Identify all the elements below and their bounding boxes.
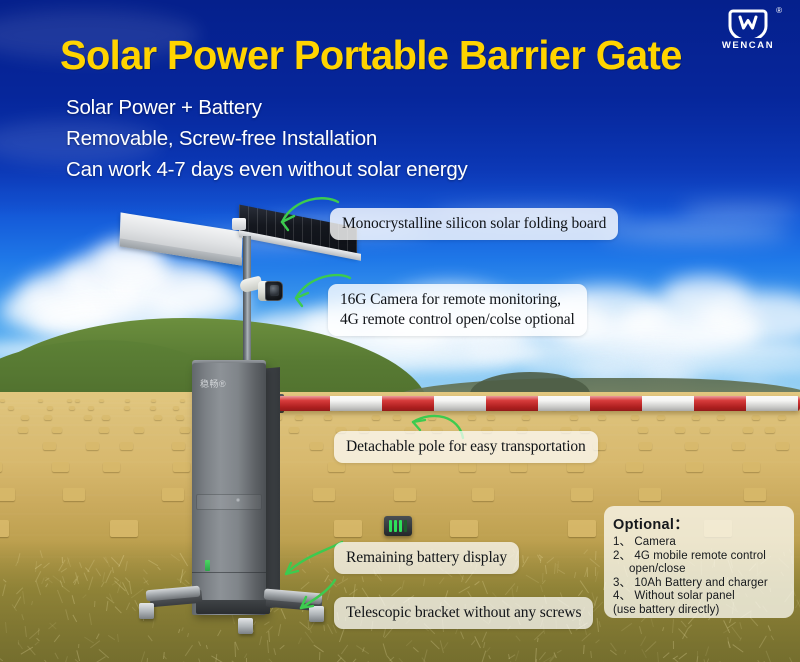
hay-bale (450, 520, 478, 537)
hay-bale (180, 427, 190, 433)
hay-bale (328, 462, 345, 472)
callout-line: Remaining battery display (346, 548, 507, 568)
hay-bale (86, 442, 99, 450)
hay-bale (8, 406, 14, 410)
straw (586, 567, 587, 577)
hay-bale (686, 462, 703, 472)
hay-bale (324, 415, 332, 420)
barrier-arm (278, 396, 800, 411)
hay-bale (776, 442, 789, 450)
hay-bale (310, 442, 323, 450)
optional-item: 3、 10Ah Battery and charger (613, 577, 786, 591)
page-title: Solar Power Portable Barrier Gate (60, 32, 682, 79)
hay-bale (69, 406, 75, 410)
optional-title: Optional： (613, 513, 786, 534)
straw (557, 561, 558, 568)
hay-bale (510, 462, 527, 472)
hay-bale (752, 415, 760, 420)
battery-bar (394, 520, 397, 532)
hay-bale (172, 442, 185, 450)
field-row-line (0, 476, 800, 478)
hay-bale (44, 415, 52, 420)
callout-line: Telescopic bracket without any screws (346, 603, 581, 623)
hay-bale (150, 406, 156, 410)
callout-arrow-telescopic-bracket (293, 578, 337, 616)
cloud (660, 276, 750, 316)
straw (673, 641, 674, 649)
hay-bale (103, 462, 120, 472)
feature-bullet: Solar Power + Battery (66, 92, 666, 123)
optional-item-sub: (use battery directly) (613, 604, 786, 618)
optional-item-sub: open/close (613, 563, 786, 577)
hay-bale (52, 462, 69, 472)
hay-bale (0, 520, 9, 537)
hay-bale (154, 415, 162, 420)
hay-bale (334, 520, 362, 537)
callout-line: Monocrystalline silicon solar folding bo… (342, 214, 606, 234)
hay-bale (0, 399, 5, 402)
callout-camera: 16G Camera for remote monitoring, 4G rem… (328, 284, 587, 336)
cabinet-access-panel (196, 494, 262, 510)
hay-bale (631, 415, 639, 420)
hay-bale (313, 488, 335, 501)
callout-battery-display: Remaining battery display (334, 542, 519, 574)
wencan-w-icon (727, 8, 769, 38)
straw (319, 652, 320, 660)
bracket-foot-left (139, 603, 154, 619)
hay-bale (289, 427, 299, 433)
straw (94, 601, 95, 607)
hay-bale (717, 415, 725, 420)
hay-bale (732, 442, 745, 450)
hay-bale (685, 442, 698, 450)
battery-bar-empty (404, 520, 407, 532)
callout-line: 16G Camera for remote monitoring, (340, 290, 575, 310)
hay-bale (125, 399, 130, 402)
hay-bale (700, 427, 710, 433)
straw (554, 563, 556, 574)
cabinet-brand-logo: 稳畅® (200, 377, 226, 390)
callout-telescopic-bracket: Telescopic bracket without any screws (334, 597, 593, 629)
hay-bale (567, 462, 584, 472)
hay-bale (162, 488, 184, 501)
hay-bale (570, 415, 578, 420)
cabinet-base-plinth (196, 600, 270, 614)
optional-item: 4、 Without solar panel (613, 590, 786, 604)
straw (595, 551, 596, 560)
optional-items-list: 1、 Camera2、 4G mobile remote controlopen… (613, 536, 786, 618)
hay-bale (743, 462, 760, 472)
brand-logo: ® WENCAN (714, 8, 782, 60)
callout-detachable-pole: Detachable pole for easy transportation (334, 431, 598, 463)
straw (163, 652, 165, 659)
hay-bale (173, 462, 190, 472)
hay-bale (692, 415, 700, 420)
hay-bale (765, 427, 775, 433)
battery-bar (389, 520, 392, 532)
hay-bale (99, 427, 109, 433)
hay-bale (393, 462, 410, 472)
hay-bale (134, 427, 144, 433)
cloud (616, 345, 678, 359)
hay-bale (52, 427, 62, 433)
hay-bale (176, 415, 184, 420)
hay-bale (394, 488, 416, 501)
hay-bale (18, 427, 28, 433)
hay-bale (522, 415, 530, 420)
hay-bale (295, 415, 303, 420)
hay-bale (638, 427, 648, 433)
hay-bale (468, 415, 476, 420)
hay-bale (99, 399, 104, 402)
battery-bar (399, 520, 402, 532)
hay-bale (639, 488, 661, 501)
hay-bale (487, 415, 495, 420)
hay-bale (571, 488, 593, 501)
hay-bale (47, 406, 53, 410)
cloud (600, 222, 790, 242)
hay-bale (0, 462, 2, 472)
hay-bale (744, 488, 766, 501)
hay-bale (778, 415, 786, 420)
solar-panel-hinge (232, 218, 246, 230)
optional-item: 1、 Camera (613, 536, 786, 550)
callout-solar-panel: Monocrystalline silicon solar folding bo… (330, 208, 618, 240)
hay-bale (21, 415, 29, 420)
gate-cabinet-body (192, 363, 266, 615)
optional-features-box: Optional： 1、 Camera2、 4G mobile remote c… (604, 506, 794, 618)
hay-bale (110, 520, 138, 537)
support-pole (243, 236, 251, 376)
camera-lens-glass (270, 285, 279, 296)
bracket-foot-front-left (238, 618, 253, 634)
straw (595, 567, 596, 576)
cloud (526, 356, 561, 370)
optional-item: 2、 4G mobile remote control (613, 550, 786, 564)
hay-bale (568, 520, 596, 537)
hay-bale (372, 415, 380, 420)
feature-bullet: Can work 4-7 days even without solar ene… (66, 154, 666, 185)
callout-line: Detachable pole for easy transportation (346, 437, 586, 457)
hay-bale (0, 488, 15, 501)
hay-bale (459, 462, 476, 472)
product-poster: Solar Power Portable Barrier Gate Solar … (0, 0, 800, 662)
hay-bale (38, 399, 43, 402)
hay-bale (639, 442, 652, 450)
hay-bale (393, 415, 401, 420)
cabinet-screw (236, 498, 240, 502)
hay-bale (88, 406, 94, 410)
battery-level-display-icon (384, 516, 412, 536)
field-row-line (0, 424, 800, 426)
callout-line: 4G remote control open/colse optional (340, 310, 575, 330)
hay-bale (102, 415, 110, 420)
straw (590, 651, 592, 658)
hay-bale (180, 399, 185, 402)
feature-bullet: Removable, Screw-free Installation (66, 123, 666, 154)
hay-bale (75, 399, 80, 402)
hay-bale (151, 399, 156, 402)
hay-bale (472, 488, 494, 501)
hay-bale (626, 462, 643, 472)
hay-bale (63, 488, 85, 501)
hay-bale (120, 442, 133, 450)
registered-trademark-symbol: ® (776, 6, 782, 15)
hay-bale (675, 427, 685, 433)
hay-bale (598, 415, 606, 420)
straw (18, 640, 19, 645)
hay-bale (657, 415, 665, 420)
hay-bale (743, 427, 753, 433)
cabinet-seam (192, 572, 266, 573)
feature-bullet-list: Solar Power + Battery Removable, Screw-f… (66, 92, 666, 185)
brand-name: WENCAN (714, 40, 782, 51)
hay-bale (43, 442, 56, 450)
hay-bale (84, 415, 92, 420)
cabinet-status-led (205, 560, 210, 571)
hay-bale (173, 406, 179, 410)
